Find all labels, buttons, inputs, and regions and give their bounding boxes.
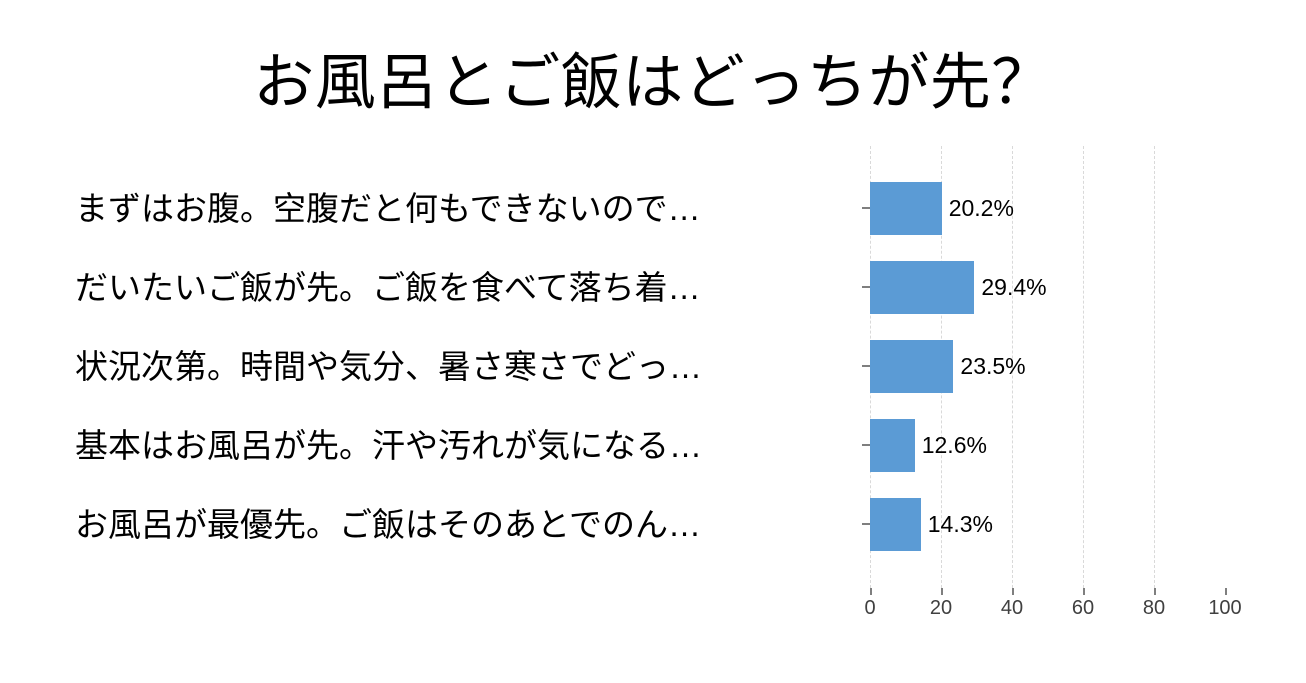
x-tick-label: 80	[1143, 597, 1165, 620]
category-tick	[862, 365, 870, 367]
bar-fill	[870, 182, 942, 235]
x-tick-0	[870, 588, 872, 595]
bar[interactable]	[870, 498, 921, 551]
bar-value-label: 29.4%	[974, 261, 1046, 314]
bar-value-label: 23.5%	[953, 340, 1025, 393]
category-tick	[862, 286, 870, 288]
category-row: だいたいご飯が先。ご飯を食べて落ち着…29.4%	[0, 248, 1306, 327]
category-label: 基本はお風呂が先。汗や汚れが気になる…	[75, 406, 870, 485]
bar[interactable]	[870, 340, 953, 393]
bar[interactable]	[870, 261, 974, 314]
bar-value-label: 20.2%	[942, 182, 1014, 235]
category-label: お風呂が最優先。ご飯はそのあとでのん…	[75, 485, 870, 564]
category-row: まずはお腹。空腹だと何もできないので…20.2%	[0, 169, 1306, 248]
bar-fill	[870, 498, 921, 551]
bar-fill	[870, 261, 974, 314]
bar-fill	[870, 340, 953, 393]
category-label: 状況次第。時間や気分、暑さ寒さでどっ…	[75, 327, 870, 406]
category-tick	[862, 444, 870, 446]
category-tick	[862, 523, 870, 525]
bar[interactable]	[870, 419, 915, 472]
category-row: お風呂が最優先。ご飯はそのあとでのん…14.3%	[0, 485, 1306, 564]
category-tick	[862, 207, 870, 209]
x-tick-60	[1083, 588, 1085, 595]
x-tick-label: 40	[1001, 597, 1023, 620]
x-tick-label: 20	[930, 597, 952, 620]
category-row: 基本はお風呂が先。汗や汚れが気になる…12.6%	[0, 406, 1306, 485]
bar-value-label: 12.6%	[915, 419, 987, 472]
bar-fill	[870, 419, 915, 472]
x-tick-20	[941, 588, 943, 595]
slide-canvas: お風呂とご飯はどっちが先？ まずはお腹。空腹だと何もできないので…20.2%だい…	[0, 0, 1306, 683]
category-row: 状況次第。時間や気分、暑さ寒さでどっ…23.5%	[0, 327, 1306, 406]
x-tick-label: 100	[1208, 597, 1241, 620]
x-tick-label: 60	[1072, 597, 1094, 620]
bar-value-label: 14.3%	[921, 498, 993, 551]
x-tick-100	[1225, 588, 1227, 595]
chart-title: お風呂とご飯はどっちが先？	[0, 46, 1306, 118]
x-tick-80	[1154, 588, 1156, 595]
x-axis: 020406080100	[870, 588, 1225, 628]
x-tick-label: 0	[864, 597, 875, 620]
category-label: だいたいご飯が先。ご飯を食べて落ち着…	[75, 248, 870, 327]
bar[interactable]	[870, 182, 942, 235]
category-label: まずはお腹。空腹だと何もできないので…	[75, 169, 870, 248]
x-tick-40	[1012, 588, 1014, 595]
